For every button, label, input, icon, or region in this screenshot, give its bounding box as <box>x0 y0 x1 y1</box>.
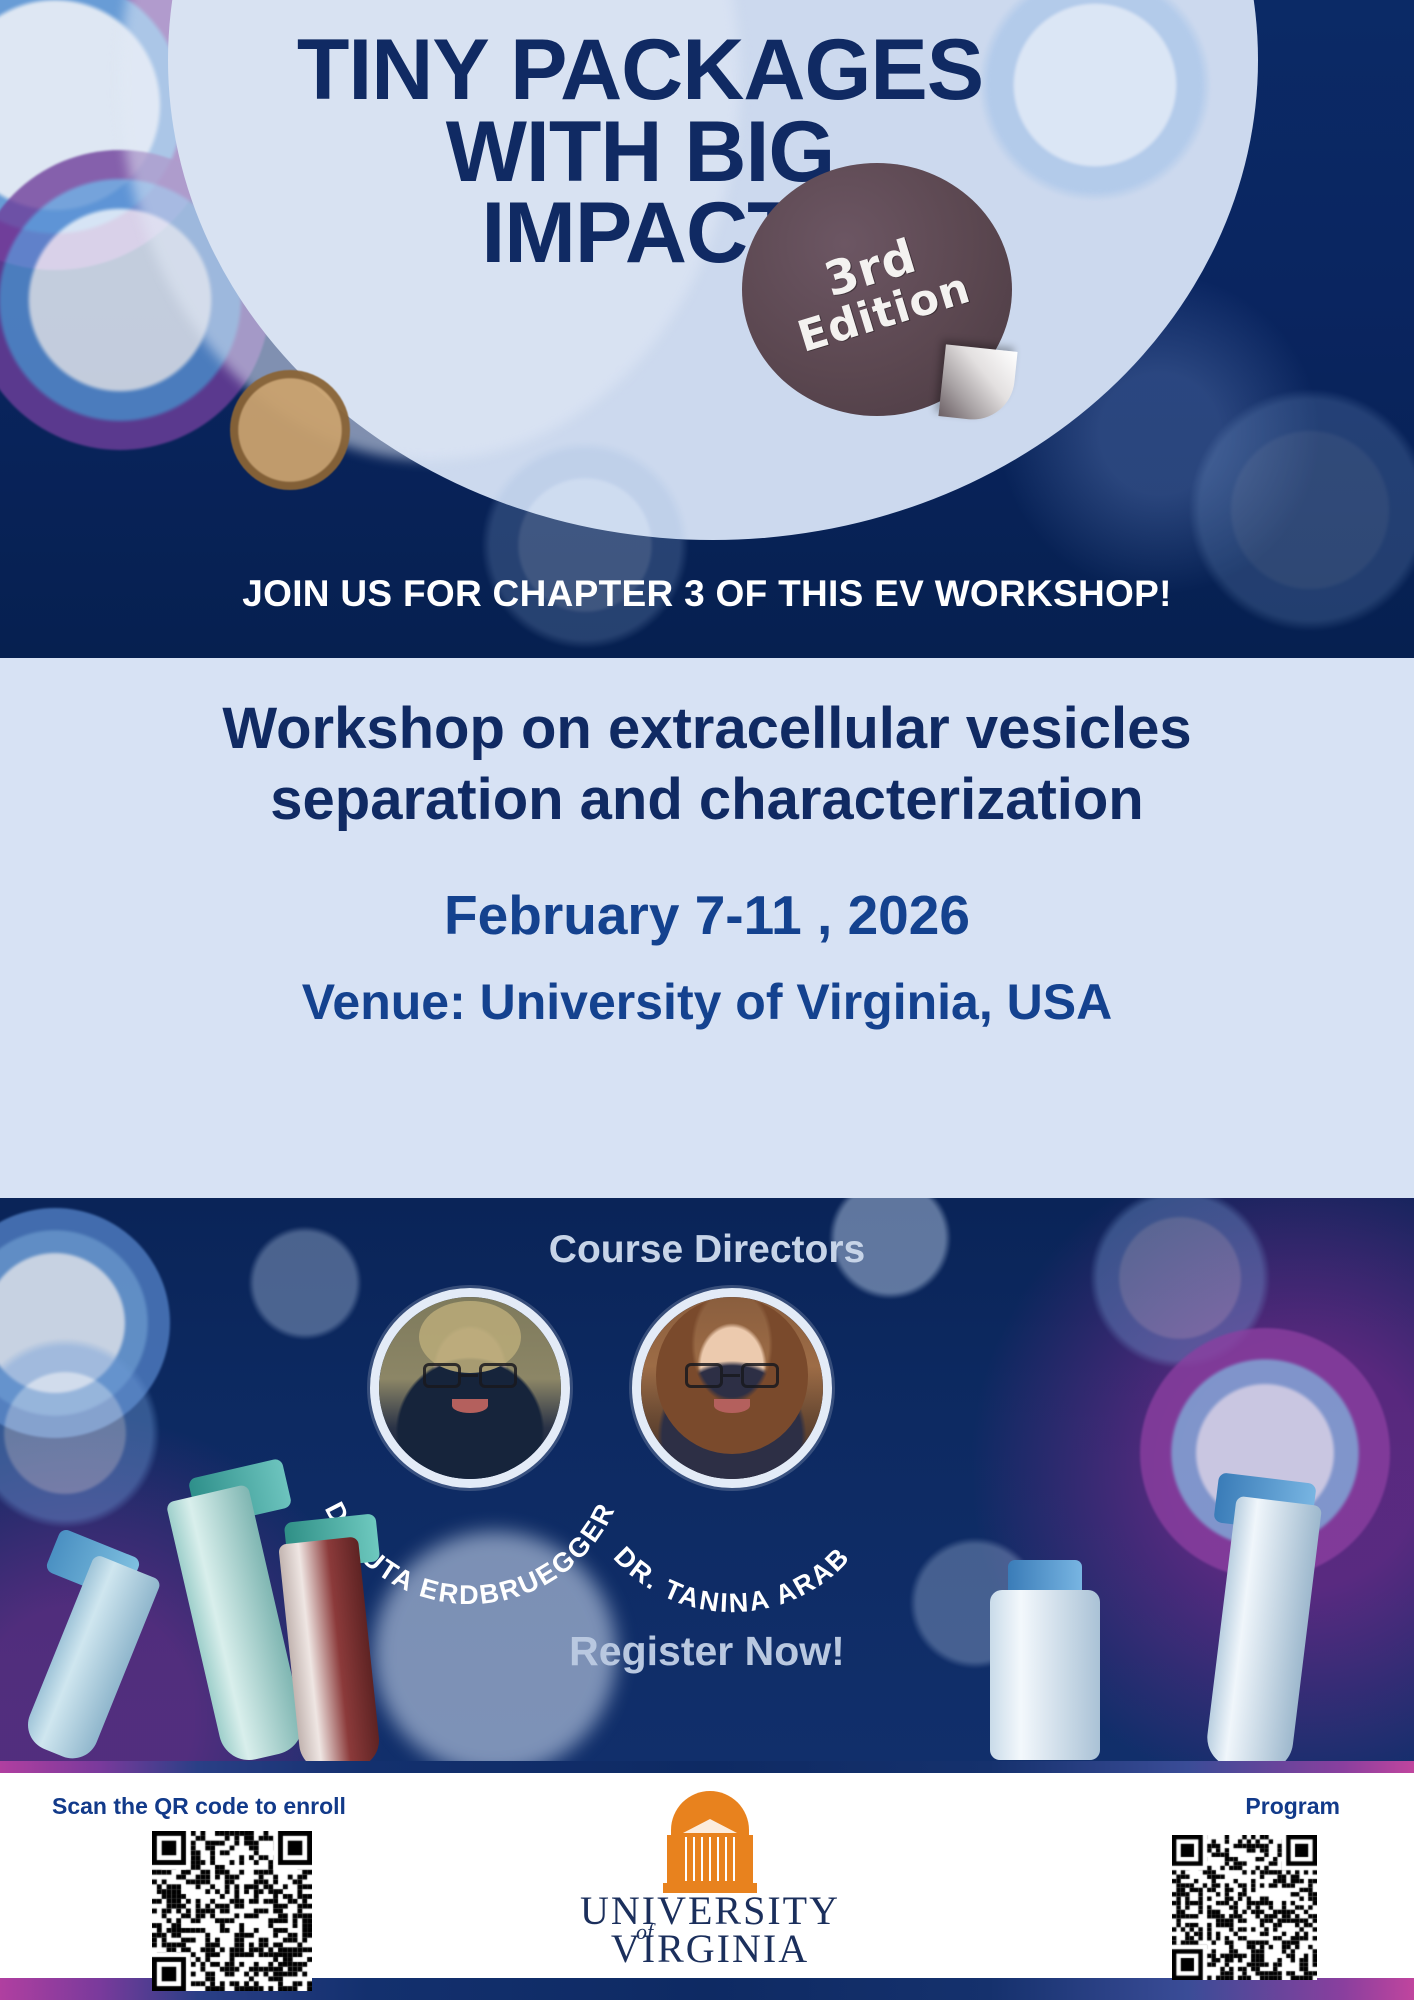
join-us-line: JOIN US FOR CHAPTER 3 OF THIS EV WORKSHO… <box>0 573 1414 615</box>
workshop-title-line-2: separation and characterization <box>60 765 1354 836</box>
edition-badge: 3rd Edition <box>742 163 1012 416</box>
details-band: Workshop on extracellular vesicles separ… <box>0 658 1414 1198</box>
sticker-curl-icon <box>938 344 1017 423</box>
rotunda-icon <box>663 1791 757 1891</box>
glasses-icon <box>685 1363 780 1388</box>
footer-section: Scan the QR code to enroll Program UNIVE… <box>0 1773 1414 1978</box>
course-directors-heading: Course Directors <box>0 1228 1414 1272</box>
event-date: February 7-11 , 2026 <box>60 883 1354 947</box>
workshop-title: Workshop on extracellular vesicles separ… <box>60 694 1354 836</box>
scan-qr-label: Scan the QR code to enroll <box>52 1793 346 1820</box>
qr-code-program[interactable] <box>1172 1835 1317 1980</box>
portrait-image-uta <box>379 1297 561 1479</box>
smile-shape <box>452 1399 488 1414</box>
glasses-icon <box>423 1363 518 1388</box>
vesicle-decoration-icon <box>470 430 700 658</box>
program-label: Program <box>1245 1793 1340 1820</box>
vial-icon <box>990 1590 1100 1760</box>
uva-logo: UNIVERSITY of VIRGINIA <box>560 1791 860 1971</box>
sphere-decoration-icon <box>230 370 350 490</box>
event-venue: Venue: University of Virginia, USA <box>60 973 1354 1031</box>
avatar <box>370 1288 570 1488</box>
workshop-title-line-1: Workshop on extracellular vesicles <box>60 694 1354 765</box>
hero-section: TINY PACKAGES WITH BIG IMPACT 3rd Editio… <box>0 0 1414 658</box>
portrait-image-tanina <box>641 1297 823 1479</box>
poster-root: TINY PACKAGES WITH BIG IMPACT 3rd Editio… <box>0 0 1414 2000</box>
title-line-1: TINY PACKAGES <box>170 30 1110 112</box>
uva-logo-line-2: VIRGINIA <box>560 1925 860 1972</box>
avatar <box>632 1288 832 1488</box>
qr-code-enroll[interactable] <box>152 1831 312 1991</box>
